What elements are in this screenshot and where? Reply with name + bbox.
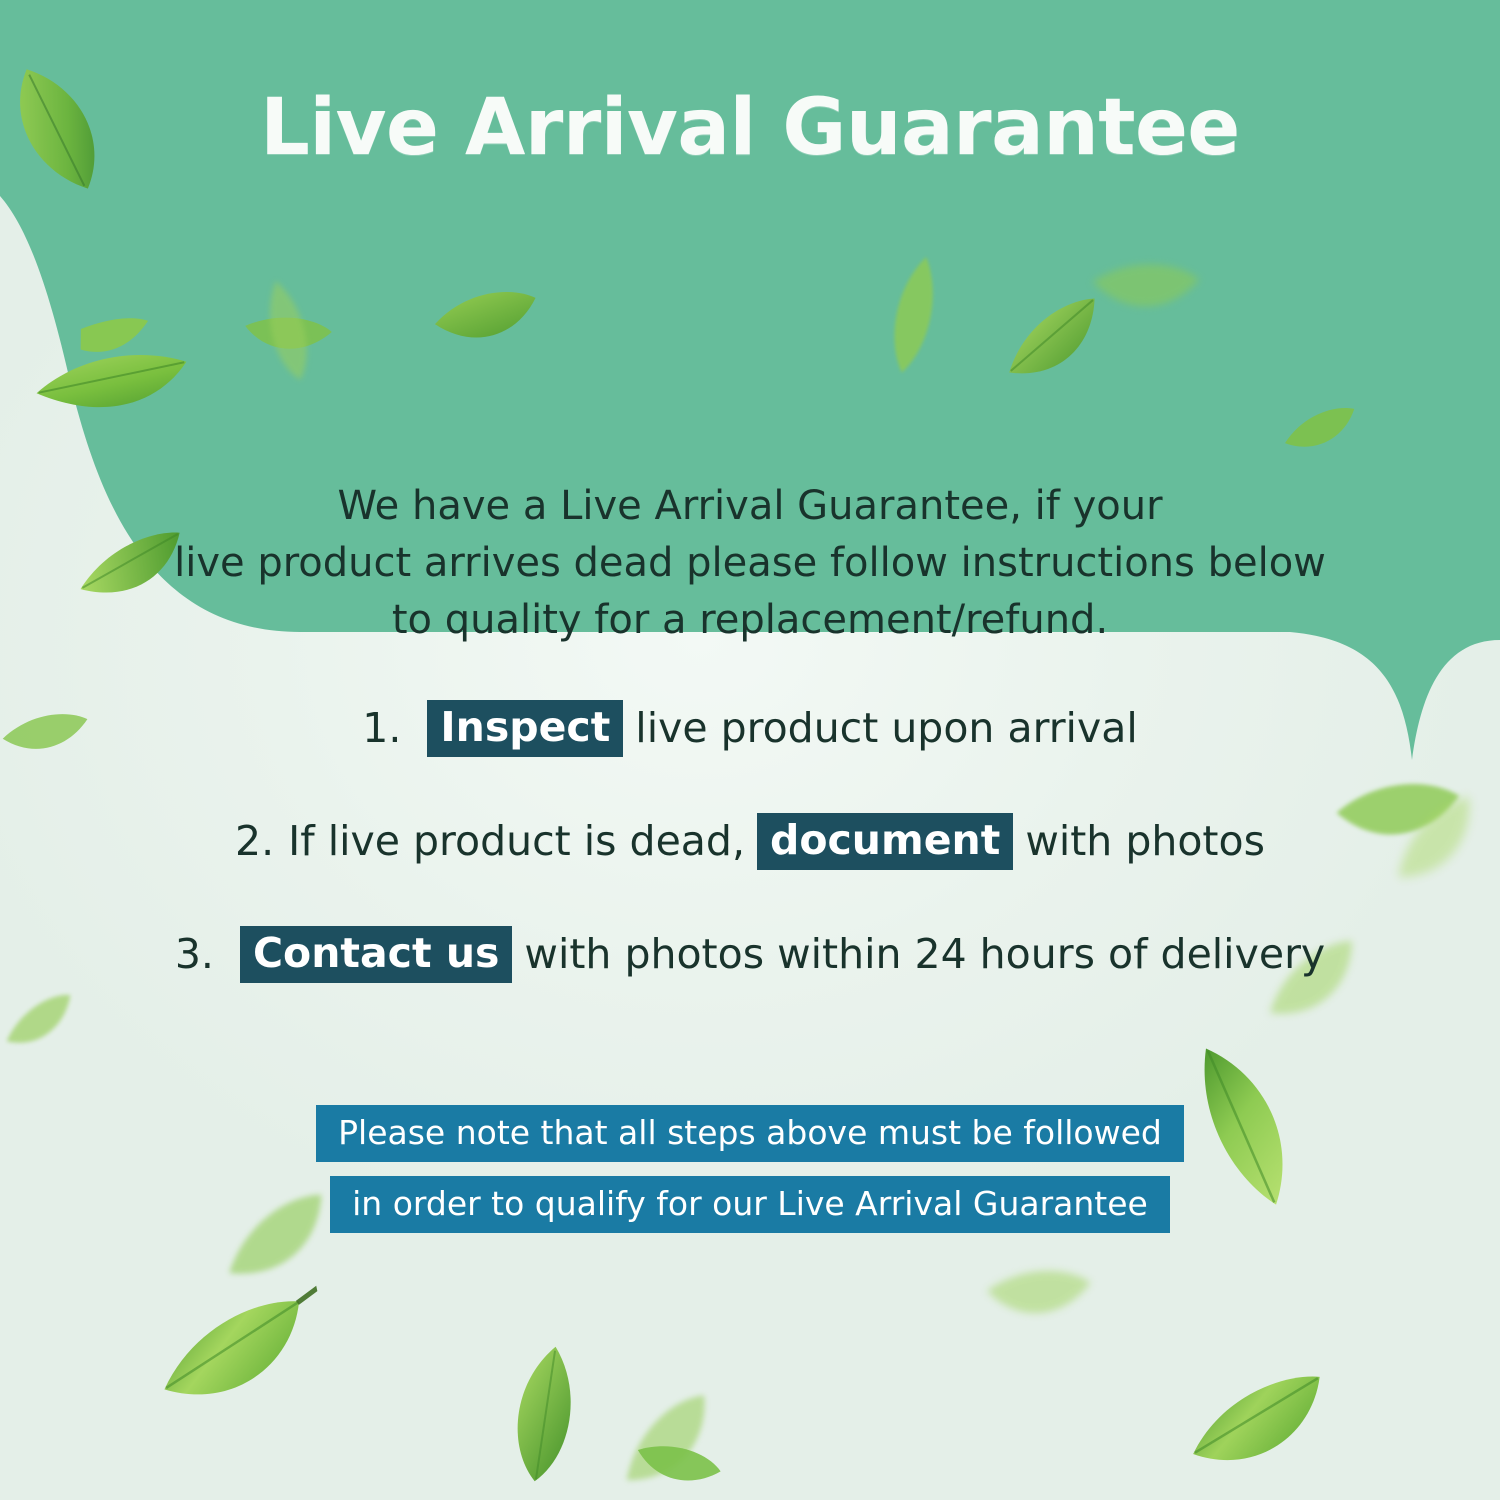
step-number: 2. xyxy=(235,821,274,862)
leaf-icon xyxy=(12,284,207,456)
step-number: 3. xyxy=(175,934,214,975)
leaf-icon xyxy=(226,278,344,392)
leaf-icon xyxy=(982,279,1127,411)
live-arrival-guarantee-card: Live Arrival Guarantee xyxy=(0,0,1500,1500)
leaf-icon xyxy=(242,268,338,392)
page-title: Live Arrival Guarantee xyxy=(0,88,1500,170)
leaf-icon xyxy=(138,1278,341,1443)
step-text-after: with photos within 24 hours of delivery xyxy=(524,934,1325,975)
intro-line-2: live product arrives dead please follow … xyxy=(150,535,1350,592)
step-highlight-contact-us[interactable]: Contact us xyxy=(240,926,512,983)
leaf-icon xyxy=(1171,1357,1349,1500)
intro-line-1: We have a Live Arrival Guarantee, if you… xyxy=(150,478,1350,535)
leaf-icon xyxy=(618,1411,732,1500)
leaf-icon xyxy=(1070,223,1209,357)
step-text-before: If live product is dead, xyxy=(288,821,745,862)
leaf-icon xyxy=(869,245,961,385)
notice-line-1: Please note that all steps above must be… xyxy=(316,1105,1184,1162)
step-text-after: with photos xyxy=(1025,821,1265,862)
intro-line-3: to quality for a replacement/refund. xyxy=(150,592,1350,649)
step-highlight-document[interactable]: document xyxy=(757,813,1013,870)
step-text-after: live product upon arrival xyxy=(635,708,1137,749)
step-number: 1. xyxy=(362,708,401,749)
leaf-icon xyxy=(592,1375,747,1500)
leaf-icon xyxy=(424,268,545,372)
leaf-icon xyxy=(0,982,86,1067)
steps-list: 1. Inspect live product upon arrival 2. … xyxy=(80,700,1420,1039)
leaf-icon xyxy=(969,1235,1101,1355)
notice-block: Please note that all steps above must be… xyxy=(0,1105,1500,1247)
notice-line-2: in order to qualify for our Live Arrival… xyxy=(330,1176,1170,1233)
step-highlight-inspect[interactable]: Inspect xyxy=(427,700,623,757)
step-item-1: 1. Inspect live product upon arrival xyxy=(80,700,1420,757)
intro-paragraph: We have a Live Arrival Guarantee, if you… xyxy=(150,478,1350,648)
leaf-icon xyxy=(1278,397,1363,464)
step-item-3: 3. Contact us with photos within 24 hour… xyxy=(80,926,1420,983)
step-item-2: 2. If live product is dead, document wit… xyxy=(80,813,1420,870)
leaf-icon xyxy=(480,1333,610,1497)
